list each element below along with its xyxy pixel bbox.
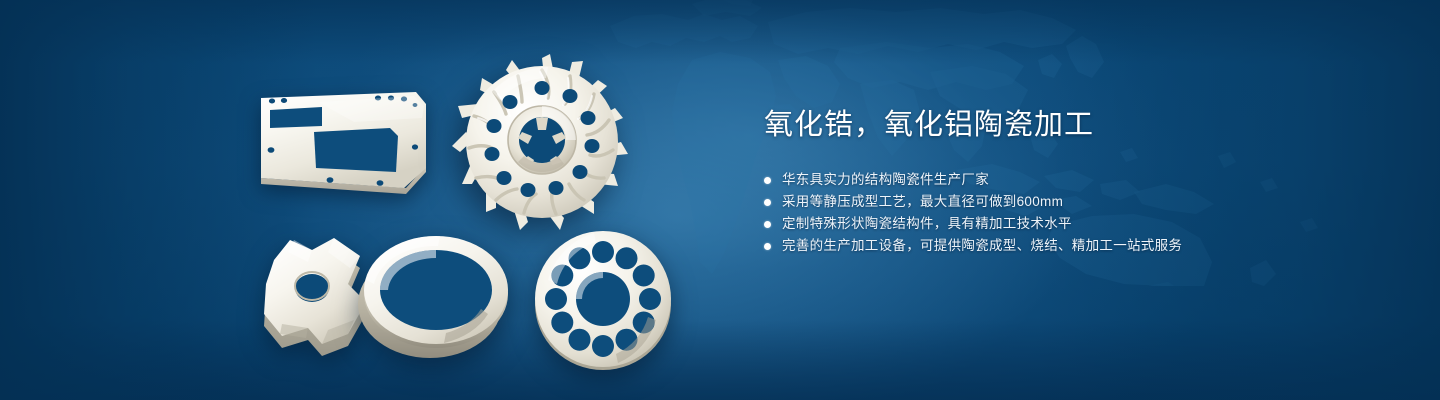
- product-thin-ceramic-ring: [348, 232, 518, 362]
- promo-banner: 氧化锆，氧化铝陶瓷加工 华东具实力的结构陶瓷件生产厂家 采用等静压成型工艺，最大…: [0, 0, 1440, 400]
- feature-bullet-item: 完善的生产加工设备，可提供陶瓷成型、烧结、精加工一站式服务: [764, 235, 1384, 257]
- banner-headline: 氧化锆，氧化铝陶瓷加工: [764, 108, 1384, 142]
- feature-bullet-list: 华东具实力的结构陶瓷件生产厂家 采用等静压成型工艺，最大直径可做到600mm 定…: [764, 169, 1384, 257]
- bullet-dot-icon: [764, 221, 771, 228]
- product-flat-machined-plate: [258, 88, 430, 196]
- feature-bullet-text: 华东具实力的结构陶瓷件生产厂家: [782, 169, 989, 191]
- feature-bullet-text: 采用等静压成型工艺，最大直径可做到600mm: [782, 191, 1063, 213]
- feature-bullet-item: 采用等静压成型工艺，最大直径可做到600mm: [764, 191, 1384, 213]
- bullet-dot-icon: [764, 177, 771, 184]
- feature-bullet-text: 完善的生产加工设备，可提供陶瓷成型、烧结、精加工一站式服务: [782, 235, 1182, 257]
- bullet-dot-icon: [764, 243, 771, 250]
- banner-copy: 氧化锆，氧化铝陶瓷加工 华东具实力的结构陶瓷件生产厂家 采用等静压成型工艺，最大…: [764, 108, 1384, 257]
- bullet-dot-icon: [764, 199, 771, 206]
- feature-bullet-item: 华东具实力的结构陶瓷件生产厂家: [764, 169, 1384, 191]
- feature-bullet-item: 定制特殊形状陶瓷结构件，具有精加工技术水平: [764, 213, 1384, 235]
- product-perforated-flange-disc: [532, 228, 674, 370]
- product-vaned-impeller-disc: [452, 52, 632, 232]
- product-photo-group: [0, 0, 740, 400]
- feature-bullet-text: 定制特殊形状陶瓷结构件，具有精加工技术水平: [782, 213, 1072, 235]
